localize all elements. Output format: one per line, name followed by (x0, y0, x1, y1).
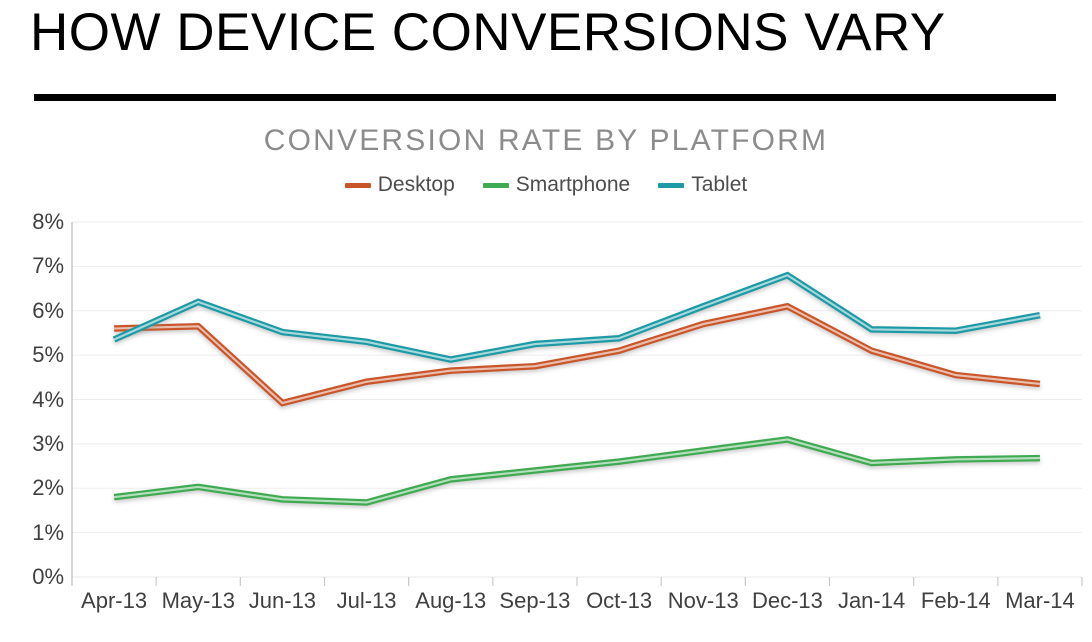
x-axis-tick-label: Dec-13 (752, 588, 823, 614)
x-axis-ticks: Apr-13May-13Jun-13Jul-13Aug-13Sep-13Oct-… (0, 0, 1092, 642)
x-axis-tick-label: Jul-13 (337, 588, 397, 614)
x-axis-tick-label: Apr-13 (81, 588, 147, 614)
x-axis-tick-label: Aug-13 (415, 588, 486, 614)
x-axis-tick-label: Oct-13 (586, 588, 652, 614)
x-axis-tick-label: Feb-14 (921, 588, 991, 614)
x-axis-tick-label: Jan-14 (838, 588, 905, 614)
x-axis-tick-label: Jun-13 (249, 588, 316, 614)
slide-canvas: HOW DEVICE CONVERSIONS VARY CONVERSION R… (0, 0, 1092, 642)
x-axis-tick-label: Sep-13 (499, 588, 570, 614)
x-axis-tick-label: Nov-13 (668, 588, 739, 614)
x-axis-tick-label: May-13 (162, 588, 235, 614)
chart-plot-area: 8%7%6%5%4%3%2%1%0% Apr-13May-13Jun-13Jul… (0, 0, 1092, 642)
x-axis-tick-label: Mar-14 (1005, 588, 1075, 614)
